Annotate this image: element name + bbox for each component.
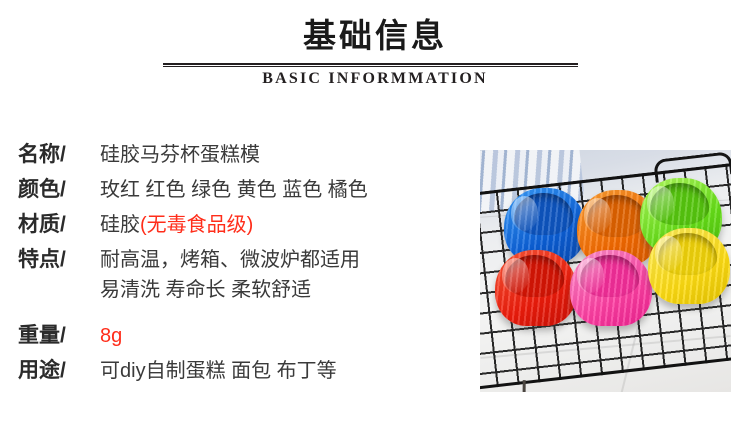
cup-body	[570, 250, 652, 326]
spec-value-features: 耐高温，烤箱、微波炉都适用 易清洗 寿命长 柔软舒适	[100, 245, 360, 305]
spec-value-name: 硅胶马芬杯蛋糕模	[100, 140, 260, 170]
spec-row-usage: 用途/ 可diy自制蛋糕 面包 布丁等	[18, 356, 468, 386]
spec-label-features: 特点/	[18, 245, 100, 275]
spec-value-usage: 可diy自制蛋糕 面包 布丁等	[100, 356, 337, 386]
rack-leg	[523, 380, 526, 392]
spec-row-weight: 重量/ 8g	[18, 321, 468, 351]
product-photo	[480, 150, 731, 392]
spec-row-features: 特点/ 耐高温，烤箱、微波炉都适用 易清洗 寿命长 柔软舒适	[18, 245, 468, 305]
spec-value-features-line2: 易清洗 寿命长 柔软舒适	[100, 275, 360, 305]
divider-line-top	[163, 63, 578, 65]
cup-highlight	[577, 258, 605, 293]
product-info-banner: 基础信息 BASIC INFORMMATION 名称/ 硅胶马芬杯蛋糕模 颜色/…	[0, 0, 750, 424]
spec-label-name: 名称/	[18, 140, 100, 170]
spec-row-color: 颜色/ 玫红 红色 绿色 黄色 蓝色 橘色	[18, 175, 468, 205]
spec-label-material: 材质/	[18, 210, 100, 240]
cup-highlight	[647, 186, 675, 221]
page-subtitle: BASIC INFORMMATION	[0, 70, 750, 88]
spec-label-color: 颜色/	[18, 175, 100, 205]
spec-row-name: 名称/ 硅胶马芬杯蛋糕模	[18, 140, 468, 170]
page-title: 基础信息	[0, 18, 750, 56]
cup-highlight	[511, 196, 539, 231]
cup-highlight	[502, 258, 530, 293]
title-divider	[163, 63, 578, 67]
spec-list: 名称/ 硅胶马芬杯蛋糕模 颜色/ 玫红 红色 绿色 黄色 蓝色 橘色 材质/ 硅…	[18, 140, 468, 391]
spec-label-weight: 重量/	[18, 321, 100, 351]
cup-body	[495, 250, 577, 326]
spec-value-features-line1: 耐高温，烤箱、微波炉都适用	[100, 245, 360, 275]
divider-line-bottom	[163, 66, 578, 67]
cup-highlight	[655, 236, 683, 271]
spec-value-material-base: 硅胶	[100, 214, 140, 236]
cup-highlight	[584, 198, 612, 233]
spec-value-color: 玫红 红色 绿色 黄色 蓝色 橘色	[100, 175, 368, 205]
spec-value-weight: 8g	[100, 321, 122, 351]
cup-body	[648, 228, 730, 304]
spec-label-usage: 用途/	[18, 356, 100, 386]
spec-value-material: 硅胶(无毒食品级)	[100, 210, 253, 240]
spec-value-material-note: (无毒食品级)	[140, 214, 253, 236]
spec-row-material: 材质/ 硅胶(无毒食品级)	[18, 210, 468, 240]
banner-header: 基础信息 BASIC INFORMMATION	[0, 0, 750, 88]
